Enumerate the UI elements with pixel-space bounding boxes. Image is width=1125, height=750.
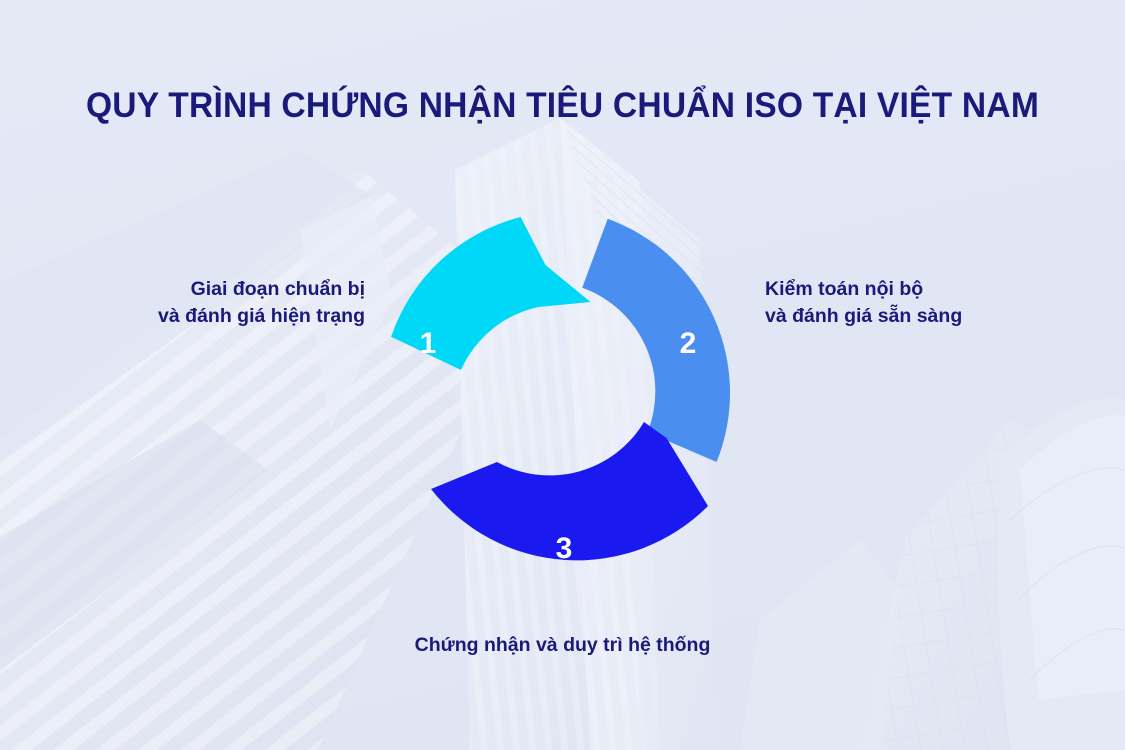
segment-number-3: 3	[544, 534, 584, 564]
step-label-1-line2: và đánh giá hiện trạng	[158, 303, 365, 330]
step-label-1-line1: Giai đoạn chuẩn bị	[158, 276, 365, 303]
infographic-canvas: QUY TRÌNH CHỨNG NHẬN TIÊU CHUẨN ISO TẠI …	[0, 0, 1125, 750]
step-label-3: Chứng nhận và duy trì hệ thống	[0, 632, 1125, 659]
step-label-3-line1: Chứng nhận và duy trì hệ thống	[0, 632, 1125, 659]
segment-number-1: 1	[408, 329, 448, 359]
segment-number-2: 2	[668, 329, 708, 359]
page-title: QUY TRÌNH CHỨNG NHẬN TIÊU CHUẨN ISO TẠI …	[23, 86, 1103, 126]
step-label-1: Giai đoạn chuẩn bị và đánh giá hiện trạn…	[158, 276, 365, 330]
step-label-2: Kiểm toán nội bộ và đánh giá sẵn sàng	[765, 276, 962, 330]
step-label-2-line1: Kiểm toán nội bộ	[765, 276, 962, 303]
step-label-2-line2: và đánh giá sẵn sàng	[765, 303, 962, 330]
